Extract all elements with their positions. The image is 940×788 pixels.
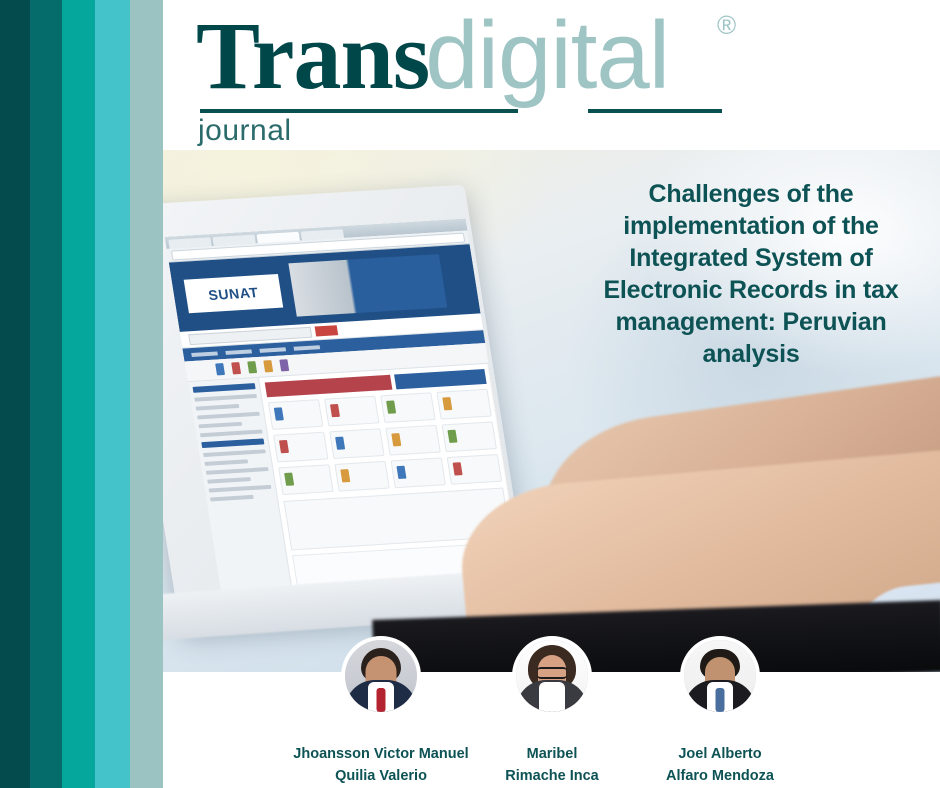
author-name-line1: Maribel — [527, 746, 578, 762]
color-bar-2 — [30, 0, 62, 788]
logo-wordmark: Transdigital — [196, 8, 669, 104]
avatar-tie — [377, 688, 386, 712]
author-name: Jhoansson Victor Manuel Quilia Valerio — [281, 744, 481, 788]
avatar — [516, 640, 588, 712]
avatar — [345, 640, 417, 712]
color-bar-strip — [0, 0, 163, 788]
author-photo-joel — [680, 636, 760, 716]
author-name: Joel Alberto Alfaro Mendoza — [620, 744, 820, 788]
color-bar-4 — [95, 0, 130, 788]
author-name-line2: Alfaro Mendoza — [620, 766, 820, 788]
author-name-line1: Jhoansson Victor Manuel — [293, 746, 468, 762]
logo-rule-left — [200, 109, 518, 113]
logo-word-digital: digital — [425, 2, 669, 109]
color-bar-5 — [130, 0, 163, 788]
author-block: Jhoansson Victor Manuel Quilia Valerio — [281, 636, 481, 788]
author-name-line2: Quilia Valerio — [281, 766, 481, 788]
author-name-line1: Joel Alberto — [678, 746, 761, 762]
article-title: Challenges of the implementation of the … — [585, 178, 917, 370]
logo-rule-right — [588, 109, 722, 113]
journal-cover: Transdigital ® journal — [0, 0, 940, 788]
registered-trademark-icon: ® — [717, 12, 736, 38]
color-bar-1 — [0, 0, 30, 788]
avatar-tie — [716, 688, 725, 712]
authors-section: Jhoansson Victor Manuel Quilia Valerio M… — [163, 636, 940, 788]
avatar — [684, 640, 756, 712]
color-bar-3 — [62, 0, 95, 788]
author-photo-jhoansson — [341, 636, 421, 716]
avatar-glasses — [537, 667, 567, 679]
avatar-shirt — [539, 682, 565, 712]
logo-word-trans: Trans — [196, 2, 429, 109]
logo-subtitle: journal — [198, 114, 292, 148]
journal-logo: Transdigital ® journal — [196, 8, 756, 143]
author-photo-maribel — [512, 636, 592, 716]
author-block: Joel Alberto Alfaro Mendoza — [620, 636, 820, 788]
